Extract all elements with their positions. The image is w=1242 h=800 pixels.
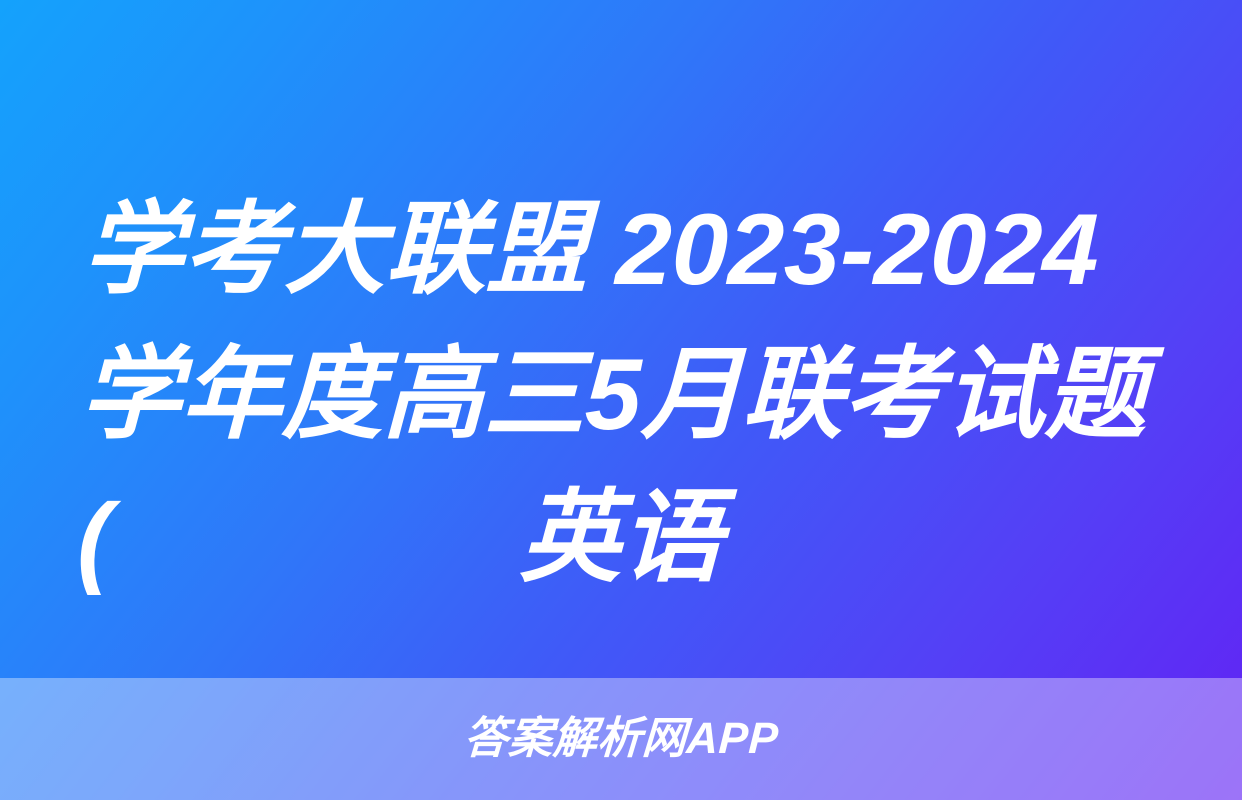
title-organization: 学考大联盟 [82, 194, 589, 306]
watermark-band: 答案解析网APP [0, 678, 1242, 800]
title-school-year: 2023-2024 [615, 194, 1100, 306]
exam-cover-image: 学考大联盟 2023-2024学年度高三5月联考试题( 英语 答案解析网APP [0, 0, 1242, 800]
title-space [587, 194, 617, 306]
title-subject: 英语 [0, 466, 1242, 611]
watermark-app-name: 答案解析网APP [463, 717, 780, 761]
